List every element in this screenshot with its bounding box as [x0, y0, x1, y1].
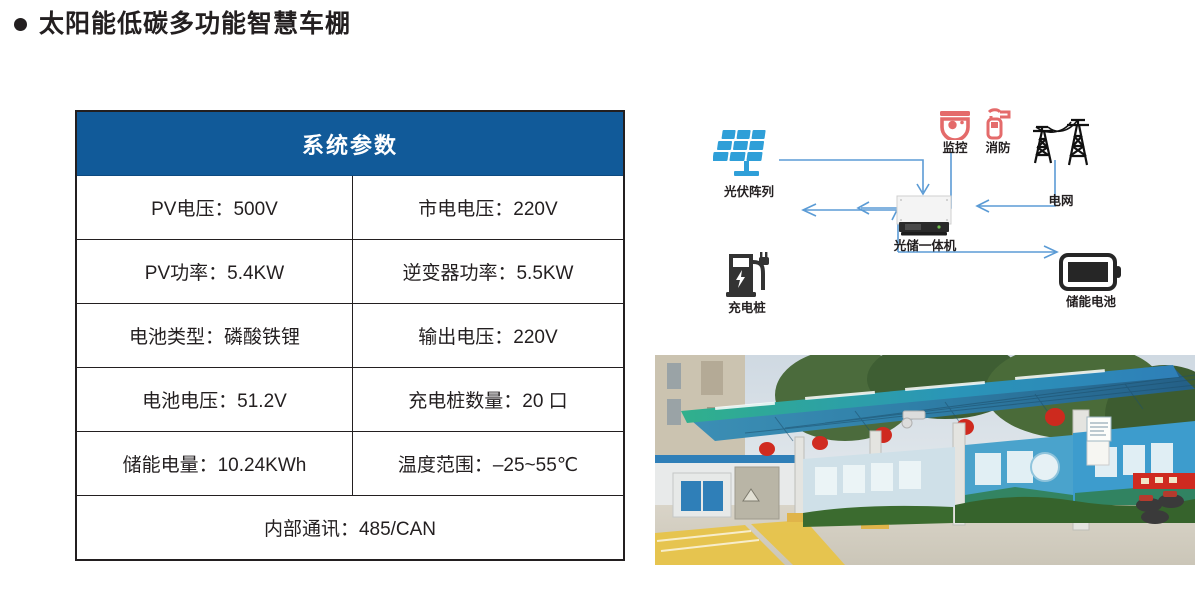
table-row: 储能电量：10.24KWh 温度范围：–25~55℃	[76, 432, 624, 496]
spec-cell-inverter-power: 逆变器功率：5.5KW	[352, 240, 624, 304]
hybrid-inverter-icon	[895, 195, 953, 237]
table-row: PV电压：500V 市电电压：220V	[76, 176, 624, 240]
spec-cell-storage-capacity: 储能电量：10.24KWh	[76, 432, 352, 496]
spec-cell-temp-range: 温度范围：–25~55℃	[352, 432, 624, 496]
inverter-label: 光储一体机	[879, 240, 971, 253]
bullet-dot-icon	[14, 18, 27, 31]
table-row: 内部通讯：485/CAN	[76, 496, 624, 561]
spec-cell-grid-voltage: 市电电压：220V	[352, 176, 624, 240]
spec-cell-battery-voltage: 电池电压：51.2V	[76, 368, 352, 432]
solar-carport-site-photo	[655, 355, 1195, 565]
spec-cell-pile-count: 充电桩数量：20 口	[352, 368, 624, 432]
pv-array-label: 光伏阵列	[699, 186, 799, 199]
spec-cell-pv-power: PV功率：5.4KW	[76, 240, 352, 304]
system-parameters-table: 系统参数 PV电压：500V 市电电压：220V PV功率：5.4KW 逆变器功…	[75, 110, 625, 561]
table-row: 电池类型：磷酸铁锂 输出电压：220V	[76, 304, 624, 368]
page-title: 太阳能低碳多功能智慧车棚	[14, 12, 351, 37]
table-row: PV功率：5.4KW 逆变器功率：5.5KW	[76, 240, 624, 304]
page-title-label: 太阳能低碳多功能智慧车棚	[39, 12, 351, 37]
power-grid-label: 电网	[1033, 195, 1089, 208]
battery-label: 储能电池	[1055, 296, 1127, 309]
charging-pile-label: 充电桩	[711, 302, 783, 315]
solar-panel-icon	[713, 128, 783, 180]
monitoring-label: 监控	[934, 142, 976, 155]
spec-cell-internal-comm: 内部通讯：485/CAN	[76, 496, 624, 561]
fire-extinguisher-icon	[983, 108, 1013, 141]
charging-pile-icon	[723, 250, 775, 298]
fire-protection-label: 消防	[977, 142, 1019, 155]
spec-cell-pv-voltage: PV电压：500V	[76, 176, 352, 240]
cctv-camera-icon	[939, 110, 971, 140]
table-header-row: 系统参数	[76, 111, 624, 176]
table-row: 电池电压：51.2V 充电桩数量：20 口	[76, 368, 624, 432]
table-header-label: 系统参数	[76, 111, 624, 176]
transmission-tower-icon	[1027, 115, 1095, 173]
site-photo-illustration	[655, 355, 1195, 565]
battery-icon	[1059, 252, 1123, 292]
spec-cell-battery-type: 电池类型：磷酸铁锂	[76, 304, 352, 368]
system-architecture-diagram: 光伏阵列 监控 消防	[655, 100, 1195, 350]
spec-cell-output-voltage: 输出电压：220V	[352, 304, 624, 368]
